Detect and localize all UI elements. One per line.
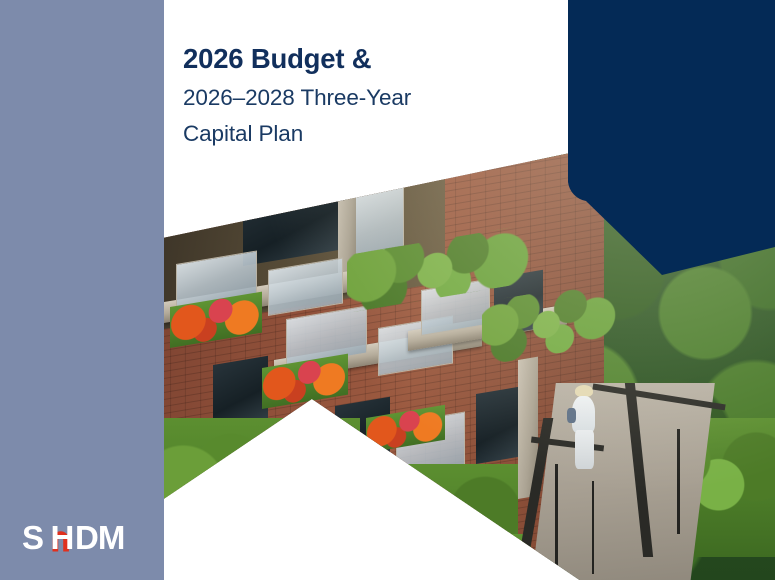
hedge-left xyxy=(164,418,360,580)
page-subtitle-line-2: Capital Plan xyxy=(183,118,563,150)
page-subtitle-line-1: 2026–2028 Three-Year xyxy=(183,82,563,114)
rail-post-2 xyxy=(592,481,595,574)
rail-post-3 xyxy=(677,429,680,533)
person-lower-body xyxy=(575,430,593,468)
window-lower-4 xyxy=(476,387,519,464)
page-title: 2026 Budget & xyxy=(183,40,563,78)
cover-title-block: 2026 Budget & 2026–2028 Three-Year Capit… xyxy=(183,40,563,154)
walkway-path xyxy=(530,383,714,580)
rail-post-1 xyxy=(555,464,558,568)
shdm-logo: S H DM xyxy=(22,518,140,552)
person-bag xyxy=(567,408,576,423)
svg-text:DM: DM xyxy=(75,519,124,552)
left-sidebar-band xyxy=(0,0,164,580)
svg-text:S: S xyxy=(22,519,43,552)
flower-bed-foreground xyxy=(421,534,531,580)
hedge-center xyxy=(335,464,518,580)
report-cover-page: S H DM 2026 Budget & 2026–2028 Three-Yea… xyxy=(0,0,775,580)
svg-text:H: H xyxy=(51,519,74,552)
navy-accent-shape xyxy=(540,0,775,275)
